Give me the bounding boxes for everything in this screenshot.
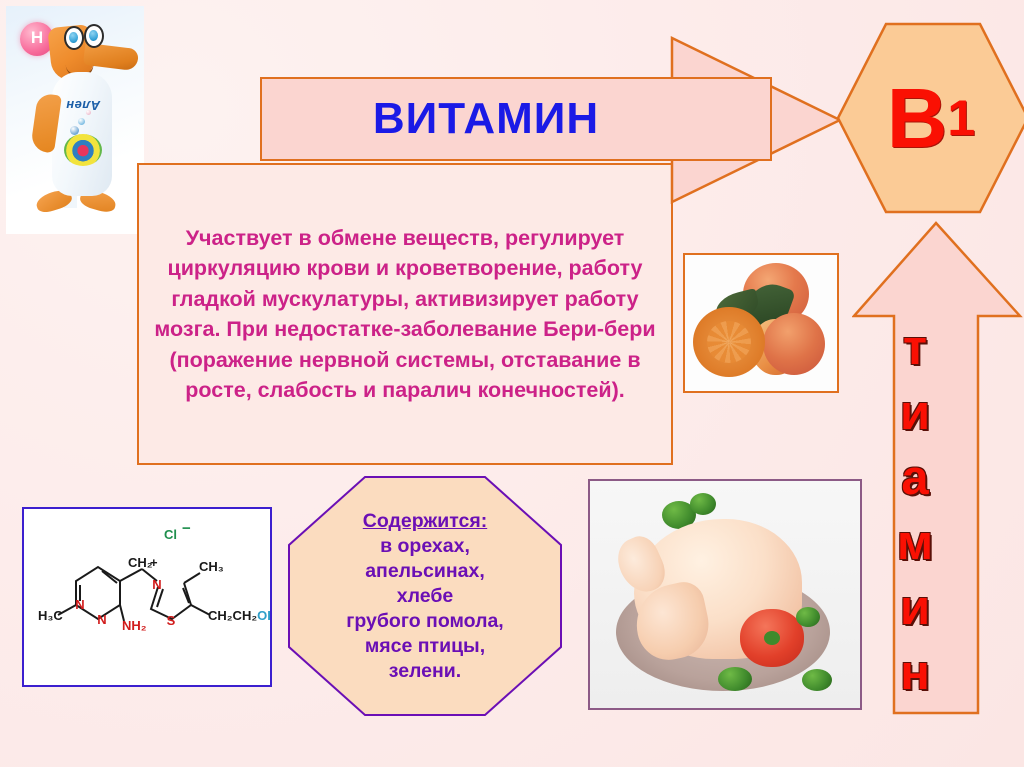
thiamine-letter: и [900,381,930,446]
thiamine-letter: а [901,446,928,511]
orange-half-segments [707,321,751,363]
thiamine-structure-image: N N H₃C NH₂ CH₂ + N S CH₃ CH₂CH₂OH Cl − [22,507,272,687]
thiamine-up-arrow: т и а м и н [852,220,1024,716]
mascot-target-graphic [64,134,102,166]
mascot-bubble-tiny [86,110,91,115]
tomato-garnish [740,609,804,667]
thiamine-letter: и [900,576,930,641]
description-box: Участвует в обмене веществ, регулирует ц… [137,163,673,465]
vitamin-letter: B [887,78,948,158]
svg-text:NH₂: NH₂ [122,618,147,633]
sources-list: Содержится: в орехах, апельсинах, хлебе … [346,509,503,684]
parsley-garnish [802,669,832,691]
thiamine-letter: т [903,316,927,381]
mascot-eye-right [84,24,104,48]
sources-octagon: Содержится: в орехах, апельсинах, хлебе … [287,475,563,717]
parsley-garnish [690,493,716,515]
page-title: ВИТАМИН [373,95,599,143]
mascot-shirt-logo: Ален [56,98,110,113]
svg-text:N: N [75,597,84,612]
parsley-garnish [796,607,820,627]
svg-text:CH₂CH₂OH: CH₂CH₂OH [208,608,270,623]
parsley-garnish [718,667,752,691]
sources-content: Содержится: в орехах, апельсинах, хлебе … [287,475,563,717]
list-item: апельсинах, [346,559,503,584]
list-item: грубого помола, [346,609,503,634]
list-item: зелени. [346,659,503,684]
list-item: в орехах, [346,534,503,559]
thiamine-skeletal-formula-icon: N N H₃C NH₂ CH₂ + N S CH₃ CH₂CH₂OH Cl − [24,509,270,685]
thiamine-vertical-letters: т и а м и н [852,316,978,706]
vitamin-subscript: 1 [947,78,975,158]
svg-text:CH₃: CH₃ [199,559,224,574]
thiamine-letter: м [897,511,933,576]
list-item: мясе птицы, [346,634,503,659]
thiamine-letter: н [900,641,930,706]
vitamin-b1-hexagon-badge: B1 [836,22,1024,214]
duck-mascot-image: Н Ален [6,6,144,234]
slide-canvas: Н Ален ВИТАМИН B1 Участвует в [0,0,1024,767]
orange-whole-right [763,313,825,375]
title-banner: ВИТАМИН [260,77,772,161]
svg-text:Cl: Cl [164,527,177,542]
svg-text:N: N [97,612,106,627]
sources-heading: Содержится: [346,509,503,534]
mascot-bubble-small [78,118,85,125]
description-text: Участвует в обмене веществ, регулирует ц… [139,223,671,406]
svg-text:S: S [167,613,176,628]
svg-text:H₃C: H₃C [38,608,63,623]
mascot-eye-left [64,26,84,50]
svg-text:−: − [182,520,191,537]
chicken-photo [588,479,862,710]
mascot-bubble-medium [70,126,79,135]
oranges-photo [683,253,839,393]
list-item: хлебе [346,584,503,609]
vitamin-b1-label: B1 [836,22,1024,214]
svg-text:N: N [152,577,161,592]
svg-text:+: + [150,555,158,570]
